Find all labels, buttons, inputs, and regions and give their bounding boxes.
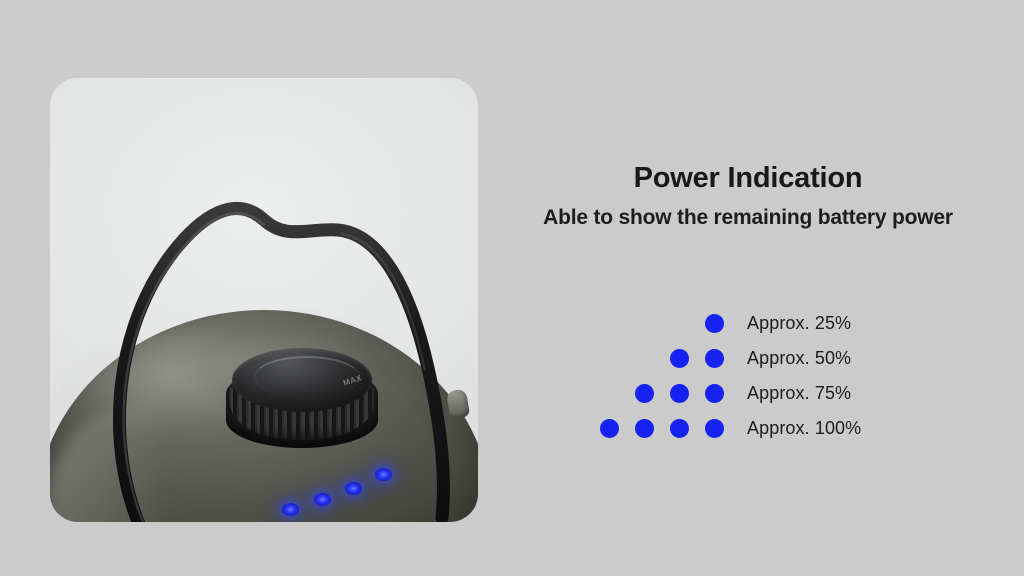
product-led-1 bbox=[282, 503, 299, 516]
legend-label: Approx. 100% bbox=[747, 418, 861, 439]
legend-dots bbox=[596, 411, 736, 446]
legend-dot bbox=[635, 419, 654, 438]
legend-label: Approx. 50% bbox=[747, 348, 851, 369]
legend-dot bbox=[705, 384, 724, 403]
legend-dot bbox=[670, 349, 689, 368]
product-illustration: MAX bbox=[50, 78, 478, 522]
product-led-3 bbox=[345, 482, 362, 495]
power-knob[interactable]: MAX bbox=[226, 348, 378, 452]
legend-dot bbox=[670, 384, 689, 403]
legend-dot bbox=[705, 419, 724, 438]
legend-dots bbox=[596, 376, 736, 411]
product-led-2 bbox=[314, 493, 331, 506]
legend-dot bbox=[600, 419, 619, 438]
legend-dot bbox=[705, 314, 724, 333]
page-title: Power Indication bbox=[498, 160, 998, 196]
legend-row: Approx. 100% bbox=[596, 411, 926, 446]
product-led-4 bbox=[375, 468, 392, 481]
page-subtitle: Able to show the remaining battery power bbox=[498, 204, 998, 232]
legend-row: Approx. 50% bbox=[596, 341, 926, 376]
legend-dots bbox=[596, 341, 736, 376]
legend-dots bbox=[596, 306, 736, 341]
knob-top-face: MAX bbox=[232, 348, 372, 412]
legend-label: Approx. 75% bbox=[747, 383, 851, 404]
battery-level-legend: Approx. 25% Approx. 50% Approx. 75% bbox=[596, 306, 926, 446]
legend-row: Approx. 75% bbox=[596, 376, 926, 411]
product-photo-card: MAX bbox=[50, 78, 478, 522]
legend-dot bbox=[670, 419, 689, 438]
legend-dot bbox=[635, 384, 654, 403]
slide-root: MAX Power Indication Able to sho bbox=[0, 0, 1024, 576]
info-panel: Power Indication Able to show the remain… bbox=[498, 160, 998, 232]
legend-row: Approx. 25% bbox=[596, 306, 926, 341]
knob-arc-mark bbox=[254, 356, 360, 398]
legend-dot bbox=[705, 349, 724, 368]
legend-label: Approx. 25% bbox=[747, 313, 851, 334]
handle-mount-right bbox=[446, 388, 471, 419]
